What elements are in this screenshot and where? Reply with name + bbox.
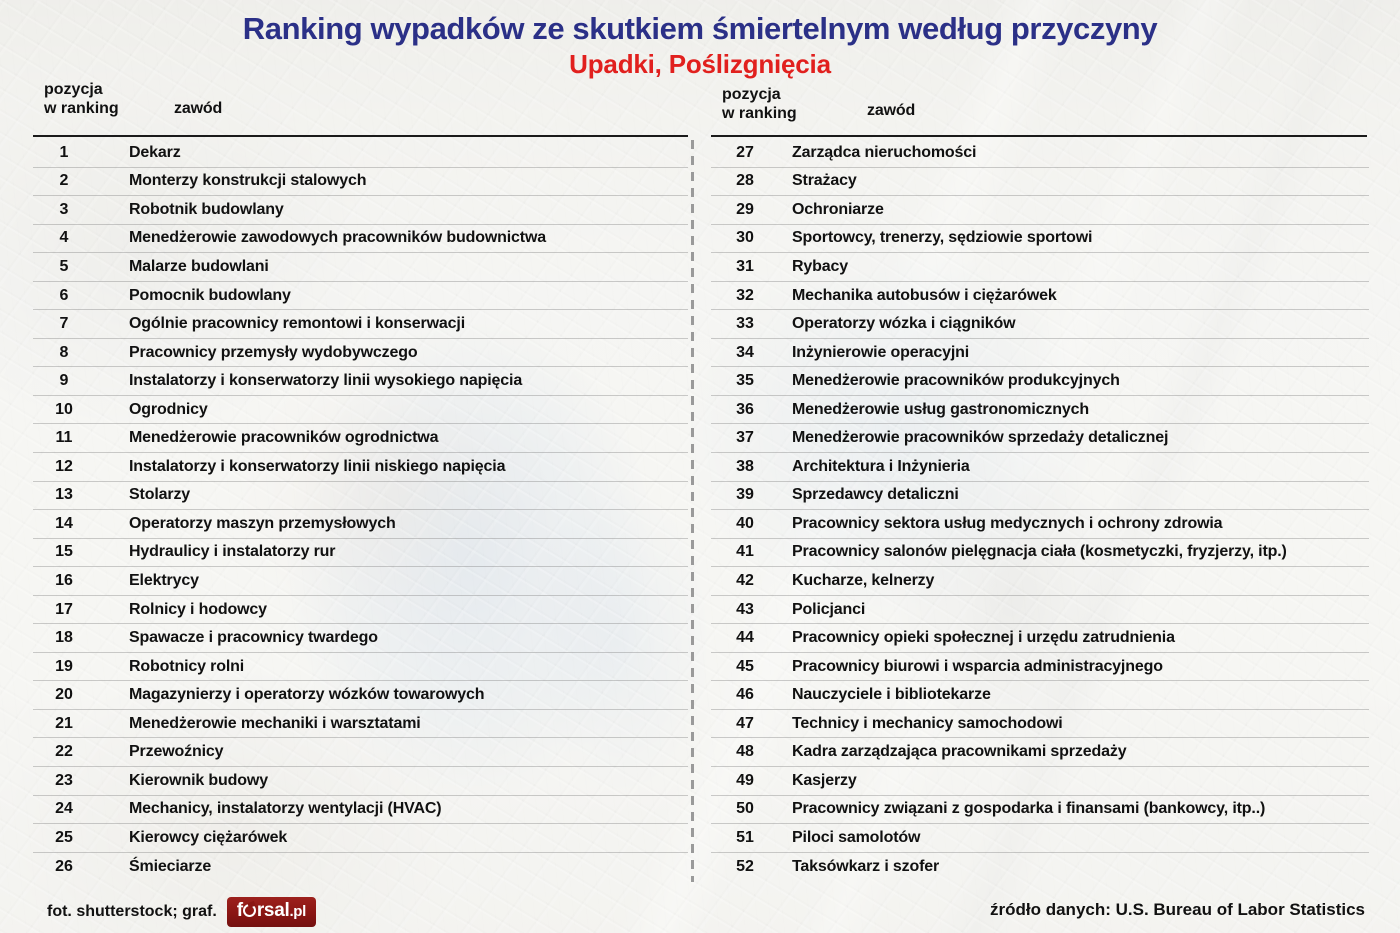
occupation-cell: Stolarzy	[95, 486, 190, 504]
photo-credit-text: fot. shutterstock; graf.	[47, 903, 217, 921]
occupation-cell: Robotnik budowlany	[95, 201, 284, 219]
header-rule-left	[33, 135, 688, 137]
table-row: 16Elektrycy	[33, 567, 688, 596]
table-row: 44Pracownicy opieki społecznej i urzędu …	[711, 624, 1369, 653]
page-subtitle: Upadki, Poślizgnięcia	[0, 49, 1400, 80]
rank-cell: 47	[711, 715, 779, 733]
header-rule-right	[711, 135, 1367, 137]
table-row: 18Spawacze i pracownicy twardego	[33, 624, 688, 653]
ranking-table-right-column: 27Zarządca nieruchomości28Strażacy29Ochr…	[711, 139, 1369, 881]
table-row: 48Kadra zarządzająca pracownikami sprzed…	[711, 738, 1369, 767]
forsal-logo-prefix: f	[237, 901, 243, 921]
table-row: 40Pracownicy sektora usług medycznych i …	[711, 510, 1369, 539]
rank-cell: 18	[33, 629, 95, 647]
occupation-cell: Kierowcy ciężarówek	[95, 829, 287, 847]
table-row: 49Kasjerzy	[711, 767, 1369, 796]
rank-cell: 11	[33, 429, 95, 447]
table-row: 47Technicy i mechanicy samochodowi	[711, 710, 1369, 739]
rank-cell: 16	[33, 572, 95, 590]
rank-cell: 37	[711, 429, 779, 447]
occupation-cell: Kierownik budowy	[95, 772, 268, 790]
table-row: 45Pracownicy biurowi i wsparcia administ…	[711, 653, 1369, 682]
rank-cell: 36	[711, 401, 779, 419]
occupation-cell: Pracownicy biurowi i wsparcia administra…	[779, 658, 1163, 676]
rank-cell: 2	[33, 172, 95, 190]
table-row: 35Menedżerowie pracowników produkcyjnych	[711, 367, 1369, 396]
rank-cell: 41	[711, 543, 779, 561]
occupation-cell: Pracownicy związani z gospodarka i finan…	[779, 800, 1265, 818]
column-header-rank-right: pozycja w ranking	[722, 85, 784, 123]
rank-cell: 8	[33, 344, 95, 362]
table-row: 32Mechanika autobusów i ciężarówek	[711, 282, 1369, 311]
occupation-cell: Rolnicy i hodowcy	[95, 601, 267, 619]
ranking-table-left-column: 1Dekarz2Monterzy konstrukcji stalowych3R…	[33, 139, 688, 881]
occupation-cell: Kasjerzy	[779, 772, 857, 790]
occupation-cell: Menedżerowie pracowników ogrodnictwa	[95, 429, 438, 447]
occupation-cell: Magazynierzy i operatorzy wózków towarow…	[95, 686, 484, 704]
rank-cell: 46	[711, 686, 779, 704]
occupation-cell: Strażacy	[779, 172, 857, 190]
occupation-cell: Pomocnik budowlany	[95, 287, 291, 305]
occupation-cell: Rybacy	[779, 258, 848, 276]
rank-cell: 31	[711, 258, 779, 276]
data-source-text: źródło danych: U.S. Bureau of Labor Stat…	[990, 900, 1365, 920]
rank-cell: 22	[33, 743, 95, 761]
occupation-cell: Ogólnie pracownicy remontowi i konserwac…	[95, 315, 465, 333]
table-row: 12Instalatorzy i konserwatorzy linii nis…	[33, 453, 688, 482]
occupation-cell: Pracownicy przemysły wydobywczego	[95, 344, 418, 362]
table-row: 8Pracownicy przemysły wydobywczego	[33, 339, 688, 368]
occupation-cell: Architektura i Inżynieria	[779, 458, 970, 476]
forsal-logo[interactable]: frsal.pl	[227, 897, 316, 927]
table-row: 1Dekarz	[33, 139, 688, 168]
table-row: 52Taksówkarz i szofer	[711, 853, 1369, 882]
rank-cell: 3	[33, 201, 95, 219]
rank-cell: 30	[711, 229, 779, 247]
occupation-cell: Instalatorzy i konserwatorzy linii niski…	[95, 458, 505, 476]
rank-cell: 25	[33, 829, 95, 847]
occupation-cell: Taksówkarz i szofer	[779, 858, 939, 876]
occupation-cell: Ogrodnicy	[95, 401, 208, 419]
occupation-cell: Policjanci	[779, 601, 865, 619]
rank-cell: 9	[33, 372, 95, 390]
rank-cell: 17	[33, 601, 95, 619]
rank-cell: 21	[33, 715, 95, 733]
rank-cell: 10	[33, 401, 95, 419]
column-header-rank-right-line2: w ranking	[722, 104, 784, 123]
table-row: 42Kucharze, kelnerzy	[711, 567, 1369, 596]
rank-cell: 26	[33, 858, 95, 876]
occupation-cell: Operatorzy maszyn przemysłowych	[95, 515, 396, 533]
occupation-cell: Ochroniarze	[779, 201, 884, 219]
occupation-cell: Menedżerowie zawodowych pracowników budo…	[95, 229, 546, 247]
table-row: 17Rolnicy i hodowcy	[33, 596, 688, 625]
table-row: 14Operatorzy maszyn przemysłowych	[33, 510, 688, 539]
table-row: 29Ochroniarze	[711, 196, 1369, 225]
table-row: 28Strażacy	[711, 168, 1369, 197]
occupation-cell: Hydraulicy i instalatorzy rur	[95, 543, 335, 561]
occupation-cell: Pracownicy salonów pielęgnacja ciała (ko…	[779, 543, 1287, 561]
occupation-cell: Pracownicy opieki społecznej i urzędu za…	[779, 629, 1175, 647]
occupation-cell: Monterzy konstrukcji stalowych	[95, 172, 366, 190]
table-row: 4Menedżerowie zawodowych pracowników bud…	[33, 225, 688, 254]
rank-cell: 29	[711, 201, 779, 219]
rank-cell: 39	[711, 486, 779, 504]
table-row: 7Ogólnie pracownicy remontowi i konserwa…	[33, 310, 688, 339]
column-header-rank-left: pozycja w ranking	[44, 80, 106, 118]
occupation-cell: Malarze budowlani	[95, 258, 269, 276]
table-row: 20Magazynierzy i operatorzy wózków towar…	[33, 681, 688, 710]
rank-cell: 15	[33, 543, 95, 561]
rank-cell: 35	[711, 372, 779, 390]
table-row: 3Robotnik budowlany	[33, 196, 688, 225]
rank-cell: 45	[711, 658, 779, 676]
rank-cell: 43	[711, 601, 779, 619]
occupation-cell: Menedżerowie pracowników produkcyjnych	[779, 372, 1120, 390]
rank-cell: 14	[33, 515, 95, 533]
rank-cell: 1	[33, 144, 95, 162]
table-row: 2Monterzy konstrukcji stalowych	[33, 168, 688, 197]
occupation-cell: Pracownicy sektora usług medycznych i oc…	[779, 515, 1222, 533]
forsal-logo-ring-icon	[243, 904, 256, 917]
occupation-cell: Przewoźnicy	[95, 743, 223, 761]
table-row: 5Malarze budowlani	[33, 253, 688, 282]
rank-cell: 42	[711, 572, 779, 590]
occupation-cell: Sportowcy, trenerzy, sędziowie sportowi	[779, 229, 1092, 247]
occupation-cell: Kadra zarządzająca pracownikami sprzedaż…	[779, 743, 1126, 761]
table-row: 23Kierownik budowy	[33, 767, 688, 796]
table-row: 19Robotnicy rolni	[33, 653, 688, 682]
table-row: 25Kierowcy ciężarówek	[33, 824, 688, 853]
table-row: 22Przewoźnicy	[33, 738, 688, 767]
table-row: 46Nauczyciele i bibliotekarze	[711, 681, 1369, 710]
occupation-cell: Menedżerowie pracowników sprzedaży detal…	[779, 429, 1168, 447]
rank-cell: 12	[33, 458, 95, 476]
occupation-cell: Inżynierowie operacyjni	[779, 344, 969, 362]
occupation-cell: Menedżerowie mechaniki i warsztatami	[95, 715, 421, 733]
column-header-rank-right-line1: pozycja	[722, 85, 784, 104]
occupation-cell: Menedżerowie usług gastronomicznych	[779, 401, 1089, 419]
table-row: 36Menedżerowie usług gastronomicznych	[711, 396, 1369, 425]
table-row: 50Pracownicy związani z gospodarka i fin…	[711, 796, 1369, 825]
rank-cell: 4	[33, 229, 95, 247]
occupation-cell: Nauczyciele i bibliotekarze	[779, 686, 991, 704]
table-row: 26Śmieciarze	[33, 853, 688, 882]
occupation-cell: Mechanicy, instalatorzy wentylacji (HVAC…	[95, 800, 441, 818]
table-row: 37Menedżerowie pracowników sprzedaży det…	[711, 424, 1369, 453]
forsal-logo-domain: .pl	[289, 902, 306, 922]
occupation-cell: Mechanika autobusów i ciężarówek	[779, 287, 1057, 305]
table-row: 39Sprzedawcy detaliczni	[711, 482, 1369, 511]
rank-cell: 23	[33, 772, 95, 790]
table-row: 13Stolarzy	[33, 482, 688, 511]
occupation-cell: Robotnicy rolni	[95, 658, 244, 676]
rank-cell: 13	[33, 486, 95, 504]
table-row: 11Menedżerowie pracowników ogrodnictwa	[33, 424, 688, 453]
forsal-logo-suffix: rsal	[257, 901, 290, 921]
table-row: 10Ogrodnicy	[33, 396, 688, 425]
rank-cell: 28	[711, 172, 779, 190]
rank-cell: 51	[711, 829, 779, 847]
occupation-cell: Instalatorzy i konserwatorzy linii wysok…	[95, 372, 522, 390]
rank-cell: 27	[711, 144, 779, 162]
occupation-cell: Operatorzy wózka i ciągników	[779, 315, 1015, 333]
rank-cell: 32	[711, 287, 779, 305]
infographic-sheet: Ranking wypadków ze skutkiem śmiertelnym…	[0, 0, 1400, 933]
table-row: 34Inżynierowie operacyjni	[711, 339, 1369, 368]
table-row: 6Pomocnik budowlany	[33, 282, 688, 311]
table-row: 41Pracownicy salonów pielęgnacja ciała (…	[711, 539, 1369, 568]
table-row: 30Sportowcy, trenerzy, sędziowie sportow…	[711, 225, 1369, 254]
rank-cell: 44	[711, 629, 779, 647]
rank-cell: 20	[33, 686, 95, 704]
column-header-job-right: zawód	[833, 101, 915, 120]
rank-cell: 6	[33, 287, 95, 305]
occupation-cell: Elektrycy	[95, 572, 199, 590]
column-header-job-left: zawód	[140, 99, 222, 118]
occupation-cell: Piloci samolotów	[779, 829, 920, 847]
table-row: 21Menedżerowie mechaniki i warsztatami	[33, 710, 688, 739]
occupation-cell: Kucharze, kelnerzy	[779, 572, 934, 590]
page-title: Ranking wypadków ze skutkiem śmiertelnym…	[0, 11, 1400, 47]
rank-cell: 48	[711, 743, 779, 761]
occupation-cell: Śmieciarze	[95, 858, 211, 876]
table-row: 38Architektura i Inżynieria	[711, 453, 1369, 482]
occupation-cell: Spawacze i pracownicy twardego	[95, 629, 378, 647]
rank-cell: 49	[711, 772, 779, 790]
rank-cell: 50	[711, 800, 779, 818]
column-divider-dashed	[691, 140, 694, 882]
footer-credit: fot. shutterstock; graf. frsal.pl	[47, 897, 316, 927]
table-row: 43Policjanci	[711, 596, 1369, 625]
occupation-cell: Technicy i mechanicy samochodowi	[779, 715, 1063, 733]
rank-cell: 5	[33, 258, 95, 276]
table-row: 51Piloci samolotów	[711, 824, 1369, 853]
column-header-rank-left-line1: pozycja	[44, 80, 106, 99]
rank-cell: 7	[33, 315, 95, 333]
column-header-rank-left-line2: w ranking	[44, 99, 106, 118]
rank-cell: 40	[711, 515, 779, 533]
rank-cell: 38	[711, 458, 779, 476]
table-row: 31Rybacy	[711, 253, 1369, 282]
occupation-cell: Sprzedawcy detaliczni	[779, 486, 959, 504]
table-row: 9Instalatorzy i konserwatorzy linii wyso…	[33, 367, 688, 396]
table-row: 15Hydraulicy i instalatorzy rur	[33, 539, 688, 568]
rank-cell: 52	[711, 858, 779, 876]
occupation-cell: Zarządca nieruchomości	[779, 144, 976, 162]
table-row: 27Zarządca nieruchomości	[711, 139, 1369, 168]
rank-cell: 19	[33, 658, 95, 676]
rank-cell: 33	[711, 315, 779, 333]
rank-cell: 34	[711, 344, 779, 362]
occupation-cell: Dekarz	[95, 144, 181, 162]
table-row: 33Operatorzy wózka i ciągników	[711, 310, 1369, 339]
table-row: 24Mechanicy, instalatorzy wentylacji (HV…	[33, 796, 688, 825]
rank-cell: 24	[33, 800, 95, 818]
